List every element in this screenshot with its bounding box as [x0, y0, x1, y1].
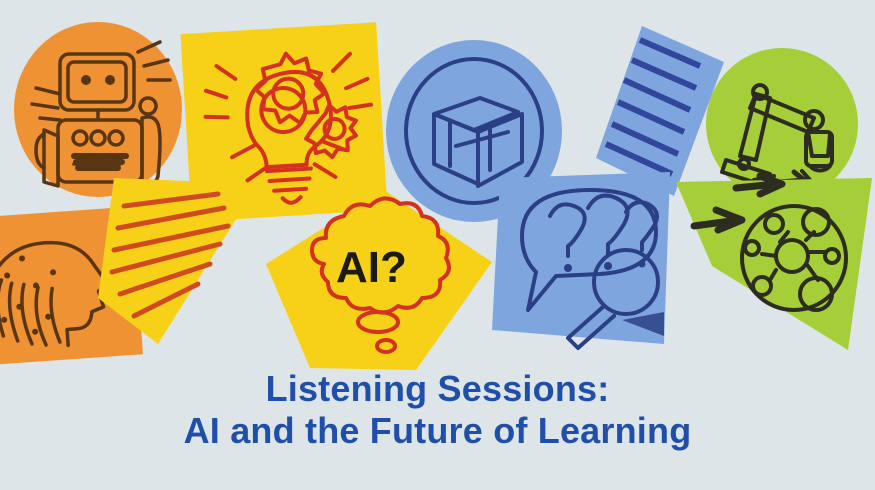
- title-line-1: Listening Sessions:: [0, 368, 875, 410]
- question-note-shape: [492, 172, 676, 352]
- ai-thought-bubble-note: AI?: [266, 190, 492, 370]
- yellow-striped-shape: [98, 178, 258, 344]
- poster-title: Listening Sessions: AI and the Future of…: [0, 368, 875, 453]
- yellow-striped-note: [98, 178, 258, 344]
- blue-striped-note: [596, 26, 724, 196]
- ai-label: AI?: [336, 243, 407, 292]
- title-line-2: AI and the Future of Learning: [0, 410, 875, 452]
- ai-bubble-shape: AI?: [266, 190, 492, 370]
- robot-doodle-circle: [14, 22, 182, 197]
- poster-canvas: AI?: [0, 0, 875, 490]
- robot-icon: [14, 22, 182, 197]
- blue-striped-shape: [596, 26, 724, 196]
- question-marks-note: [492, 172, 676, 352]
- molecule-network-note: [676, 178, 872, 350]
- molecule-shape: [676, 178, 872, 350]
